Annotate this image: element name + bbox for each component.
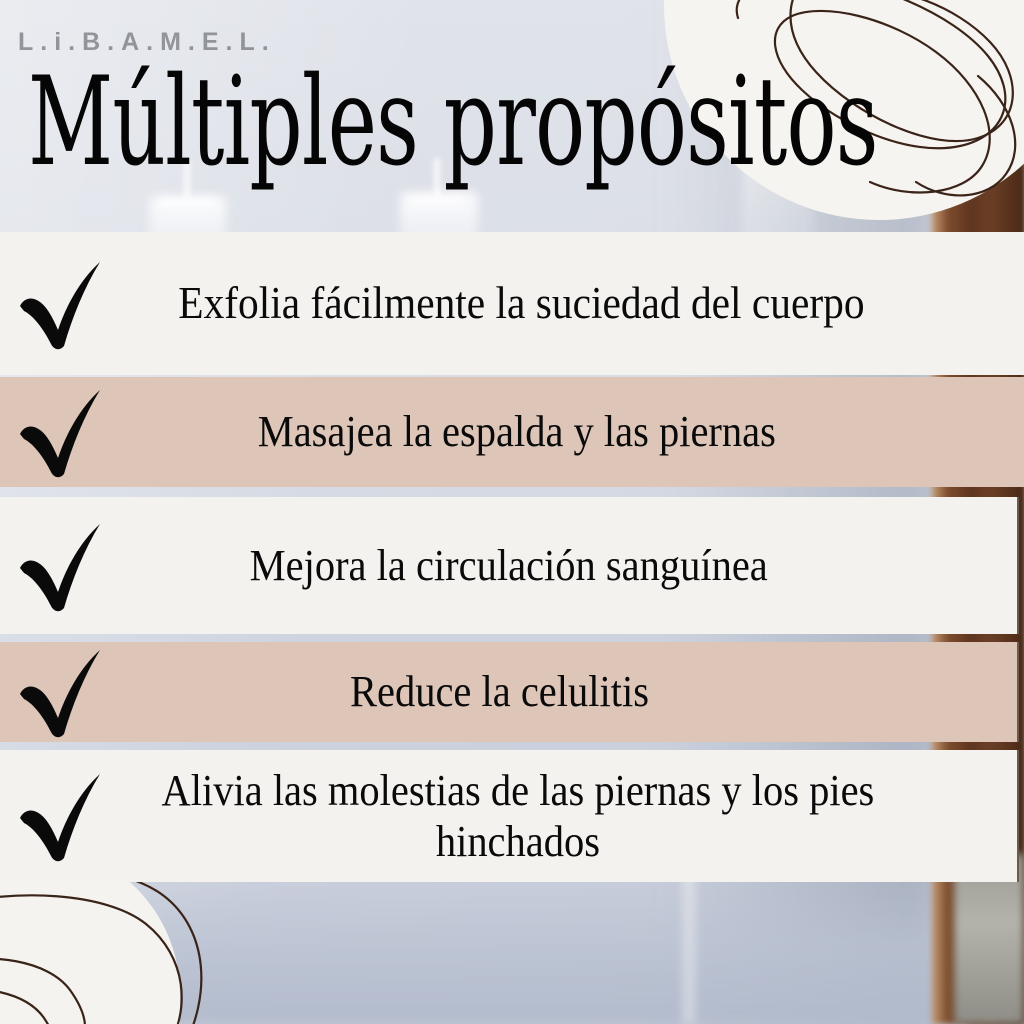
list-item: Exfolia fácilmente la suciedad del cuerp… (0, 232, 1024, 375)
list-item: Reduce la celulitis (0, 642, 1019, 742)
checkmark-icon (0, 644, 120, 740)
benefits-list: Exfolia fácilmente la suciedad del cuerp… (0, 232, 1024, 882)
benefit-text: Reduce la celulitis (156, 666, 981, 717)
benefit-text: Alivia las molestias de las piernas y lo… (156, 765, 981, 867)
checkmark-icon (0, 384, 120, 480)
benefit-text: Mejora la circulación sanguínea (156, 540, 981, 591)
benefit-text: Masajea la espalda y las piernas (156, 406, 988, 457)
page-title: Múltiples propósitos (28, 60, 812, 183)
list-item: Masajea la espalda y las piernas (0, 377, 1024, 487)
list-item: Mejora la circulación sanguínea (0, 497, 1019, 634)
checkmark-icon (0, 768, 120, 864)
checkmark-icon (0, 256, 120, 352)
list-item: Alivia las molestias de las piernas y lo… (0, 750, 1019, 882)
checkmark-icon (0, 518, 120, 614)
benefit-text: Exfolia fácilmente la suciedad del cuerp… (156, 277, 988, 329)
poster-canvas: L.i.B.A.M.E.L. Múltiples propósitos Exfo… (0, 0, 1024, 1024)
